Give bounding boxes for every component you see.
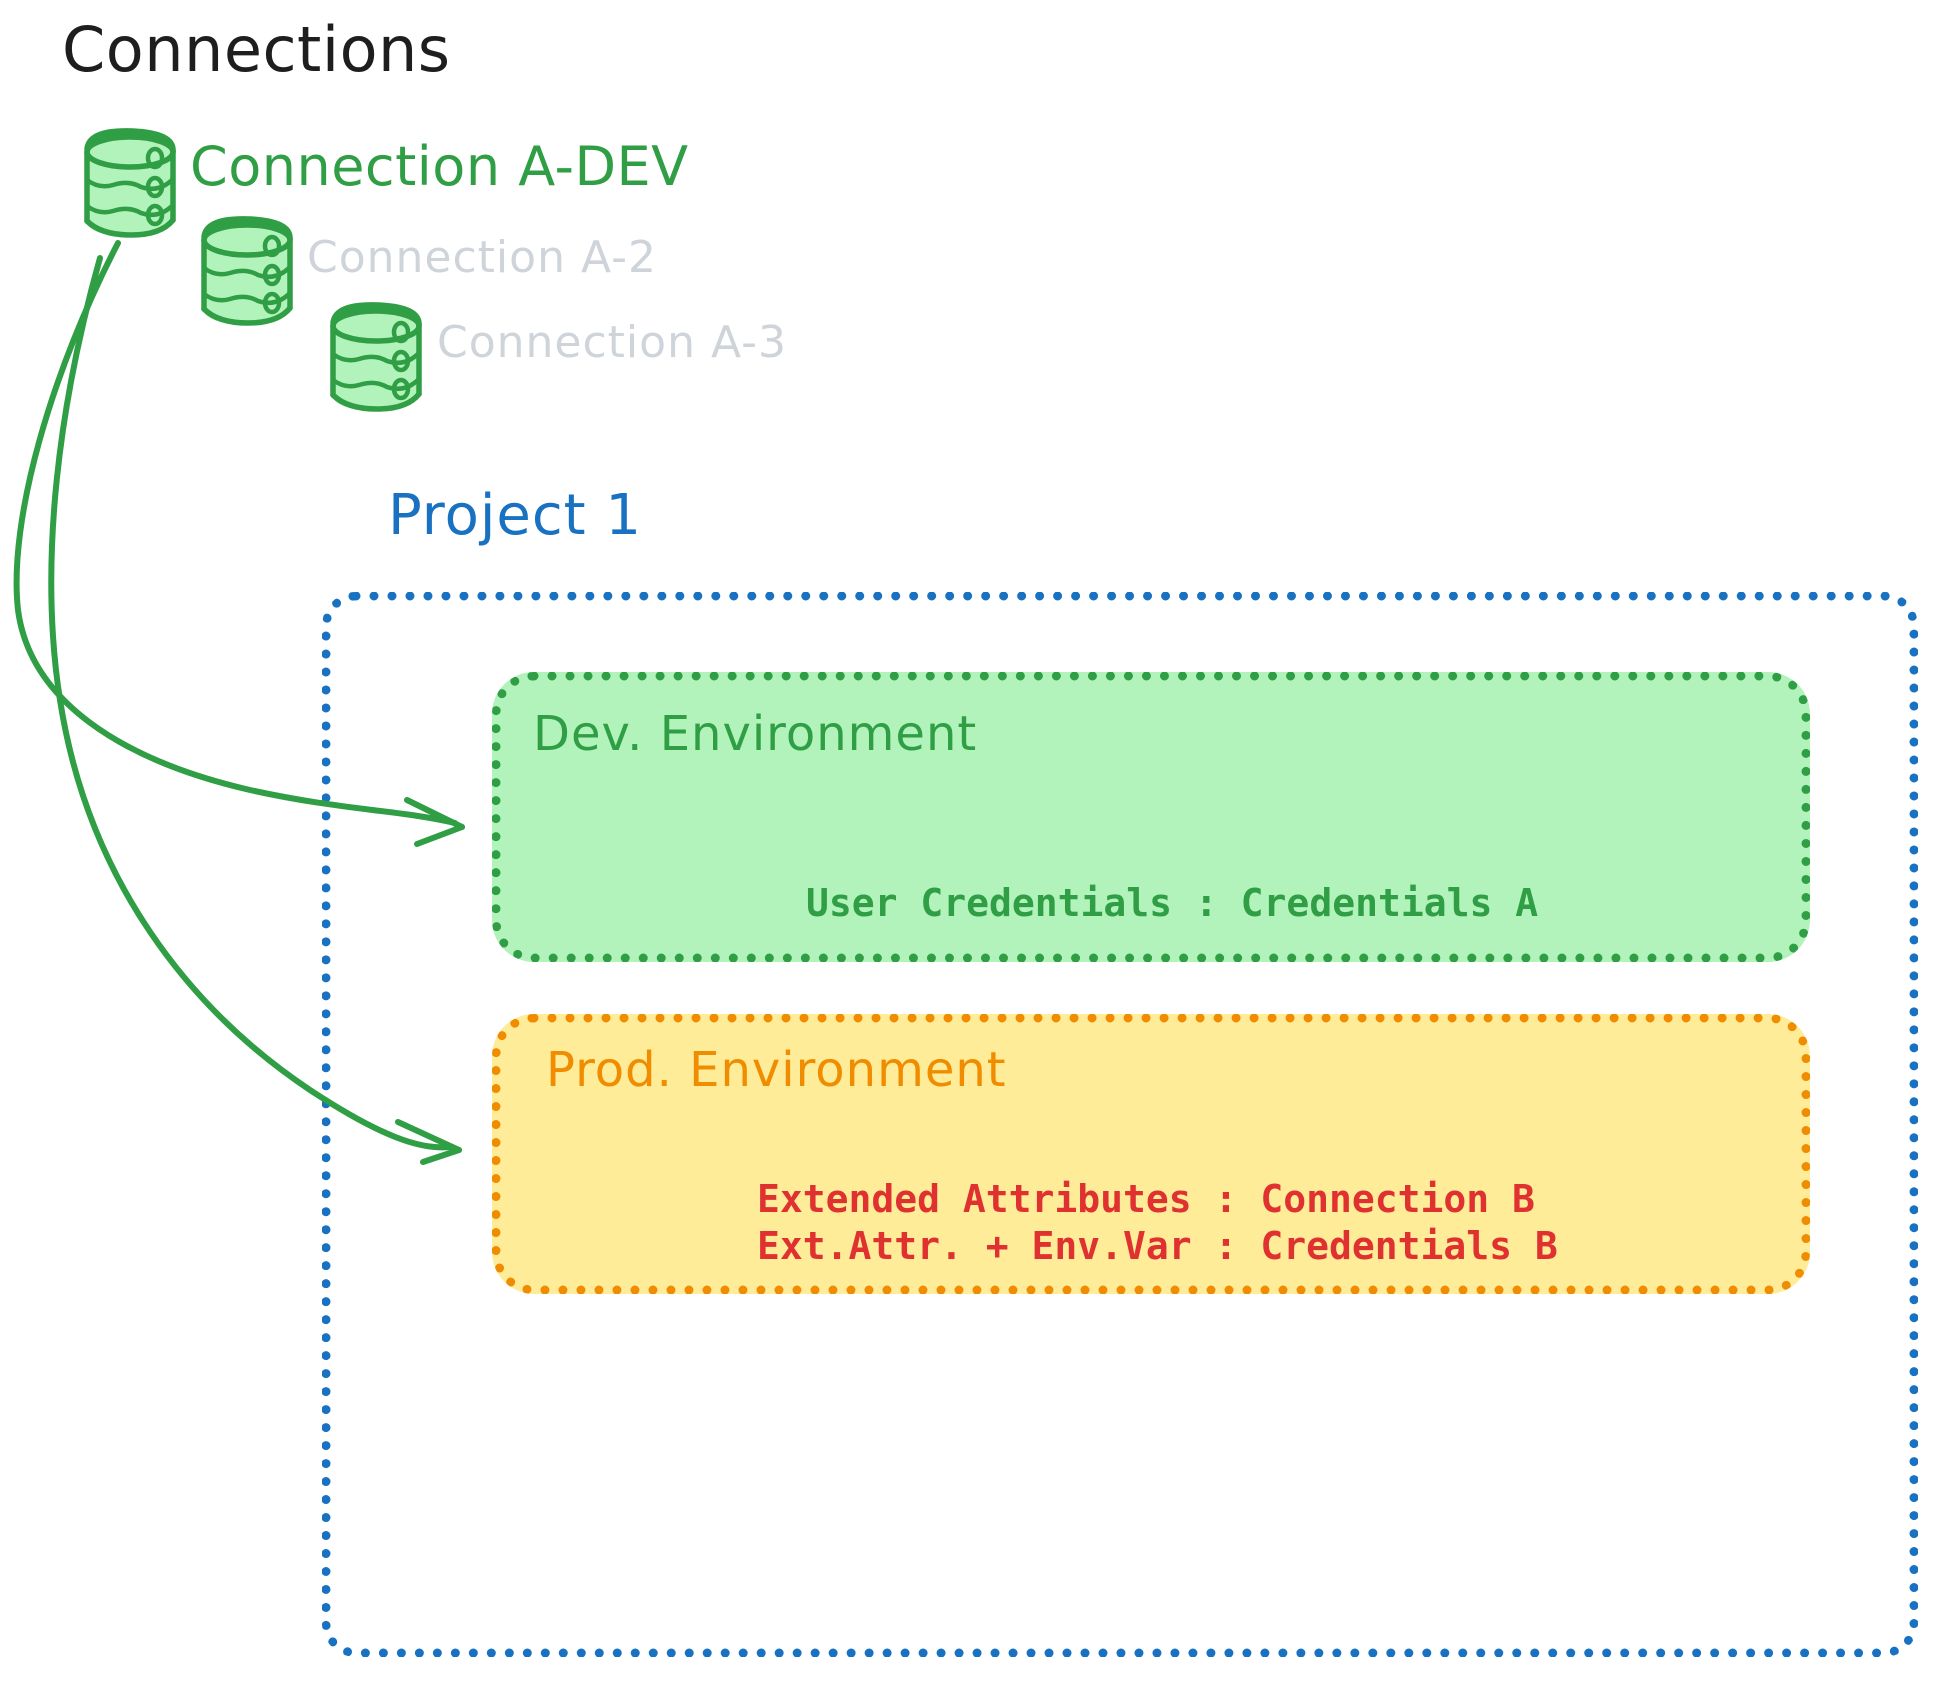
prod-environment-title: Prod. Environment: [546, 1043, 1007, 1098]
database-icon-connection-a-2[interactable]: [203, 219, 290, 324]
diagram-canvas: .cyl-fill { fill:#b2f2bb; } .cyl-line { …: [0, 0, 1938, 1691]
database-icon-connection-a-3[interactable]: [332, 305, 419, 410]
project-title: Project 1: [388, 484, 642, 548]
database-icon-connection-a-dev[interactable]: [86, 131, 173, 236]
connection-label-a-dev[interactable]: Connection A-DEV: [190, 136, 689, 198]
connection-label-a-2[interactable]: Connection A-2: [307, 233, 657, 284]
connection-label-a-3[interactable]: Connection A-3: [437, 318, 787, 369]
dev-environment-title: Dev. Environment: [533, 707, 977, 762]
prod-environment-row-1: Ext.Attr. + Env.Var : Credentials B: [757, 1225, 1558, 1269]
dev-environment-row-0: User Credentials : Credentials A: [806, 882, 1538, 926]
prod-environment-row-0: Extended Attributes : Connection B: [757, 1178, 1535, 1222]
page-title: Connections: [62, 14, 451, 85]
